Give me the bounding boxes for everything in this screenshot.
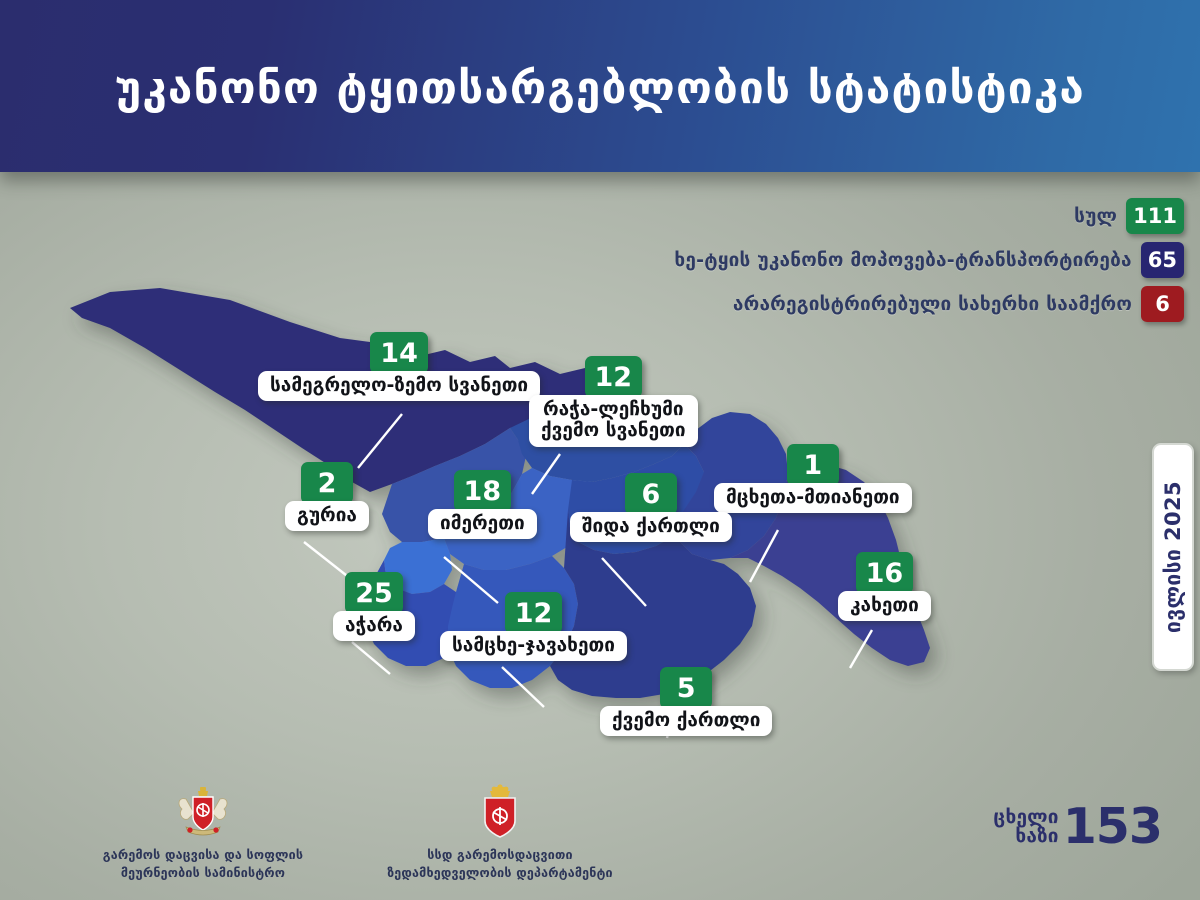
- marker-value-samegrelo-zemo-svaneti: 14: [370, 332, 428, 374]
- date-chip: ივლისი 2025: [1152, 443, 1194, 671]
- page-footer: გარემოს დაცვისა და სოფლის მეურნეობის სამ…: [0, 760, 1200, 900]
- legend-label-total: სულ: [1074, 205, 1117, 227]
- marker-label-imereti: იმერეთი: [428, 509, 537, 539]
- org-ministry: გარემოს დაცვისა და სოფლის მეურნეობის სამ…: [58, 783, 348, 882]
- page-title: უკანონო ტყითსარგებლობის სტატისტიკა: [115, 60, 1085, 112]
- marker-value-kakheti: 16: [856, 552, 914, 594]
- marker-samtskhe-javakheti[interactable]: 12 სამცხე-ჯავახეთი: [440, 592, 627, 661]
- georgia-coat-of-arms-icon: [58, 783, 348, 841]
- marker-label-shida-kartli: შიდა ქართლი: [570, 512, 732, 542]
- department-emblem-icon: [330, 783, 670, 841]
- marker-kvemo-kartli[interactable]: 5 ქვემო ქართლი: [600, 667, 772, 736]
- marker-value-guria: 2: [301, 462, 353, 504]
- marker-guria[interactable]: 2 გურია: [285, 462, 369, 531]
- legend-row-illegal-logging-transport: ხე-ტყის უკანონო მოპოვება-ტრანსპორტირება …: [674, 242, 1184, 278]
- hotline-line2: ხაზი: [1015, 827, 1058, 846]
- marker-samegrelo-zemo-svaneti[interactable]: 14 სამეგრელო-ზემო სვანეთი: [258, 332, 540, 401]
- date-chip-label: ივლისი 2025: [1161, 481, 1185, 633]
- org-department: სსდ გარემოსდაცვითი ზედამხედველობის დეპარ…: [330, 783, 670, 882]
- legend-label-illegal-logging-transport: ხე-ტყის უკანონო მოპოვება-ტრანსპორტირება: [674, 249, 1131, 271]
- map-svg: [40, 270, 1070, 770]
- marker-label-racha-lechkhumi-kvemo-svaneti: რაჭა-ლეჩხუმი ქვემო სვანეთი: [529, 395, 698, 447]
- marker-value-kvemo-kartli: 5: [660, 667, 712, 709]
- coat-of-arms-svg: [174, 783, 232, 841]
- marker-label-kakheti: კახეთი: [838, 591, 931, 621]
- org-ministry-caption: გარემოს დაცვისა და სოფლის მეურნეობის სამ…: [58, 846, 348, 882]
- marker-value-imereti: 18: [454, 470, 512, 512]
- legend-row-unregistered-sawmill: არარეგისტრირებული სახერხი საამქრო 6: [733, 286, 1184, 322]
- marker-imereti[interactable]: 18 იმერეთი: [428, 470, 537, 539]
- legend-label-unregistered-sawmill: არარეგისტრირებული სახერხი საამქრო: [733, 293, 1132, 315]
- marker-label-guria: გურია: [285, 501, 369, 531]
- marker-racha-lechkhumi-kvemo-svaneti[interactable]: 12 რაჭა-ლეჩხუმი ქვემო სვანეთი: [529, 356, 698, 447]
- marker-label-samegrelo-zemo-svaneti: სამეგრელო-ზემო სვანეთი: [258, 371, 540, 401]
- department-emblem-svg: [477, 783, 523, 841]
- georgia-region-map: [40, 270, 1070, 770]
- marker-value-adjara: 25: [345, 572, 403, 614]
- marker-adjara[interactable]: 25 აჭარა: [333, 572, 415, 641]
- page-header: უკანონო ტყითსარგებლობის სტატისტიკა: [0, 0, 1200, 172]
- marker-label-mtskheta-mtianeti: მცხეთა-მთიანეთი: [714, 483, 912, 513]
- org-department-caption: სსდ გარემოსდაცვითი ზედამხედველობის დეპარ…: [330, 846, 670, 882]
- marker-label-kvemo-kartli: ქვემო ქართლი: [600, 706, 772, 736]
- marker-value-racha-lechkhumi-kvemo-svaneti: 12: [585, 356, 643, 398]
- legend-badge-illegal-logging-transport: 65: [1141, 242, 1184, 278]
- hotline-logo: ცხელი ხაზი 153: [993, 806, 1162, 848]
- hotline-words: ცხელი ხაზი: [993, 808, 1058, 847]
- legend: სულ 111 ხე-ტყის უკანონო მოპოვება-ტრანსპო…: [674, 198, 1184, 322]
- marker-shida-kartli[interactable]: 6 შიდა ქართლი: [570, 473, 732, 542]
- marker-value-mtskheta-mtianeti: 1: [787, 444, 839, 486]
- marker-kakheti[interactable]: 16 კახეთი: [838, 552, 931, 621]
- legend-badge-unregistered-sawmill: 6: [1141, 286, 1184, 322]
- marker-label-adjara: აჭარა: [333, 611, 415, 641]
- marker-value-samtskhe-javakheti: 12: [505, 592, 563, 634]
- marker-mtskheta-mtianeti[interactable]: 1 მცხეთა-მთიანეთი: [714, 444, 912, 513]
- marker-value-shida-kartli: 6: [625, 473, 677, 515]
- legend-row-total: სულ 111: [1074, 198, 1184, 234]
- marker-label-samtskhe-javakheti: სამცხე-ჯავახეთი: [440, 631, 627, 661]
- legend-badge-total: 111: [1126, 198, 1184, 234]
- hotline-number: 153: [1063, 806, 1162, 848]
